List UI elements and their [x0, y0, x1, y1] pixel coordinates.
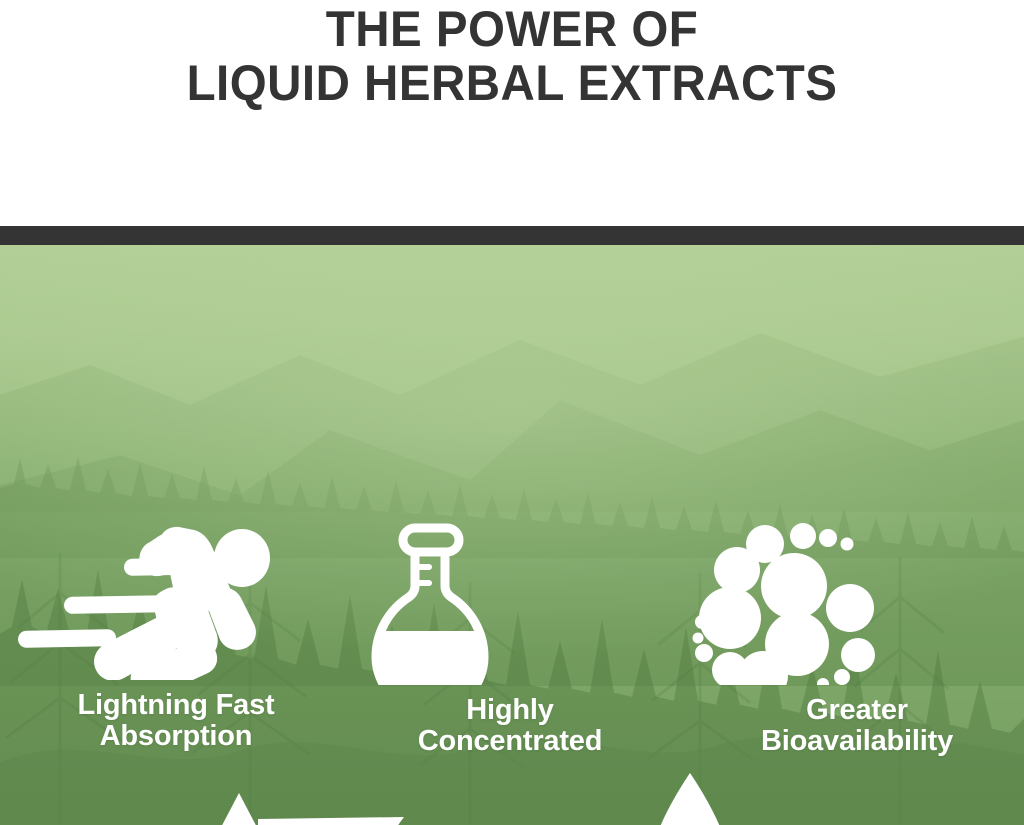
page-title-line-2: LIQUID HERBAL EXTRACTS	[26, 56, 999, 110]
infographic-page: THE POWER OF LIQUID HERBAL EXTRACTS	[0, 0, 1024, 825]
feature-label-line-1: Greater	[806, 694, 908, 726]
water-droplet-ripple-icon	[575, 765, 885, 825]
feature-label-line-1: Lightning Fast	[78, 689, 275, 721]
divider-bar	[0, 226, 1024, 245]
feature-lightning-fast-absorption: Lightning Fast Absorption	[16, 520, 336, 752]
feature-label-line-2: Absorption	[16, 721, 336, 752]
page-title-line-1: THE POWER OF	[26, 2, 999, 56]
feature-label-line-1: Highly	[466, 694, 553, 726]
feature-pure-additive-free: 100% Pure & Additive Free	[575, 765, 885, 825]
feature-greater-bioavailability: Greater Bioavailability	[690, 520, 1024, 757]
feature-full-spectrum-of-herbs: Full Spectrum of Herbs	[108, 775, 438, 825]
prism-light-spectrum-icon	[108, 775, 438, 825]
running-person-icon	[16, 520, 336, 680]
feature-label-line-2: Bioavailability	[690, 726, 1024, 757]
feature-label-concentrated: Highly Concentrated	[355, 695, 665, 757]
molecule-bubbles-icon	[690, 520, 1024, 685]
flask-icon	[355, 520, 665, 685]
feature-highly-concentrated: Highly Concentrated	[355, 520, 665, 757]
feature-label-line-2: Concentrated	[355, 726, 665, 757]
forest-photo-panel: Lightning Fast Absorption	[0, 245, 1024, 825]
feature-label-bioavailability: Greater Bioavailability	[690, 695, 1024, 757]
feature-label-absorption: Lightning Fast Absorption	[16, 690, 336, 752]
title-block: THE POWER OF LIQUID HERBAL EXTRACTS	[0, 0, 1024, 226]
